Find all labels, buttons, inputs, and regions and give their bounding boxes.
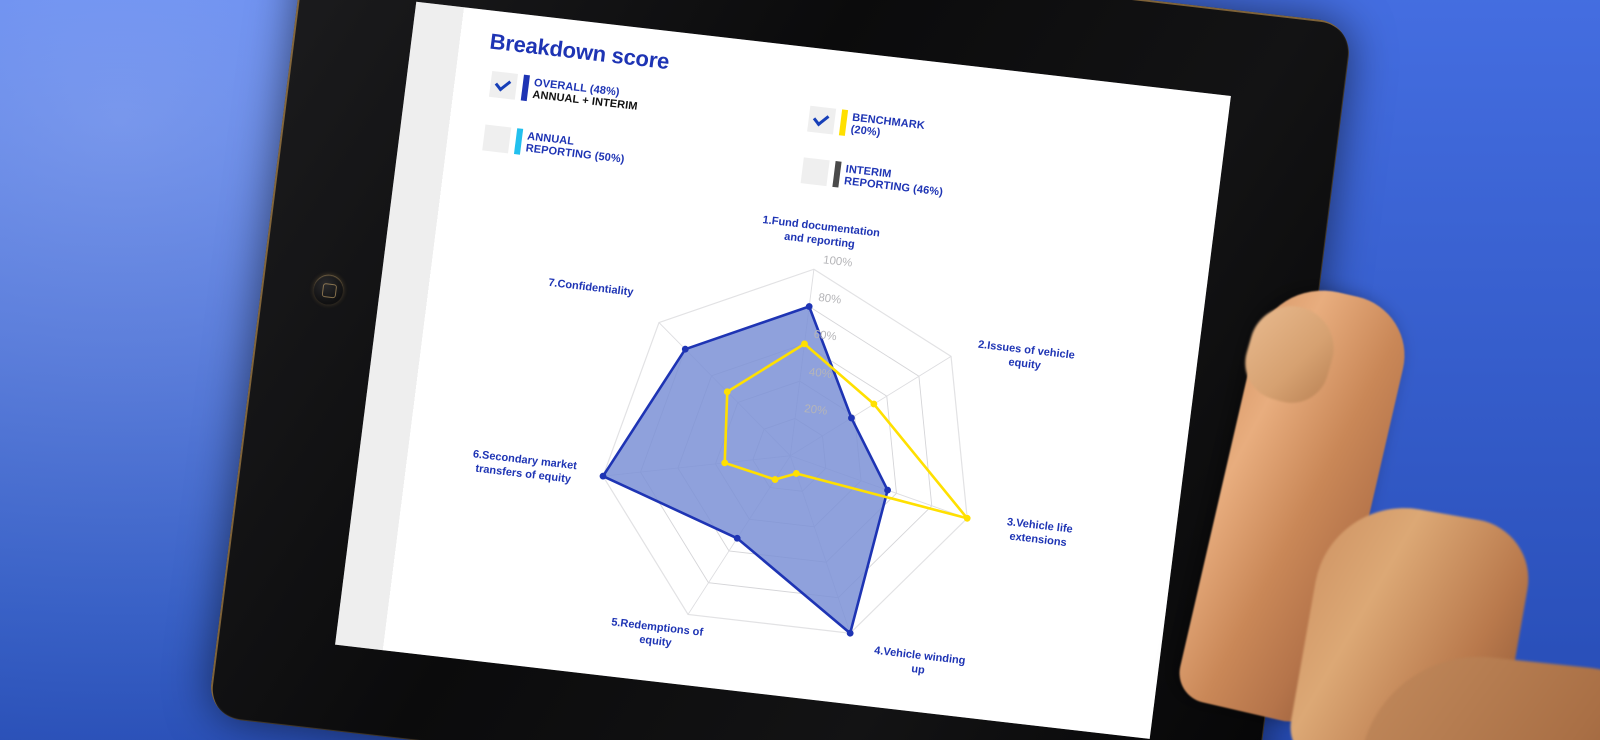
swatch-overall-icon [521, 75, 530, 101]
radar-series-area [587, 285, 909, 635]
radar-tick-label: 40% [808, 366, 832, 381]
checkbox-interim-reporting[interactable] [801, 157, 830, 186]
swatch-benchmark-icon [839, 109, 848, 135]
radar-tick-label: 60% [813, 329, 837, 344]
checkbox-annual-reporting[interactable] [482, 125, 511, 154]
home-button-icon[interactable] [312, 273, 346, 306]
legend-label-annual-reporting: ANNUAL REPORTING (50%) [525, 130, 627, 166]
legend-label-benchmark: BENCHMARK (20%) [850, 111, 926, 144]
checkbox-overall[interactable] [489, 71, 518, 100]
legend-item-interim-reporting[interactable]: INTERIM REPORTING (46%) [801, 157, 946, 199]
legend-label-interim-line2: REPORTING (46%) [843, 175, 943, 198]
legend-label-interim-reporting: INTERIM REPORTING (46%) [843, 163, 945, 199]
legend-label-overall: OVERALL (48%) ANNUAL + INTERIM [532, 76, 640, 113]
swatch-annual-reporting-icon [514, 128, 523, 154]
radar-chart-svg [414, 177, 1168, 724]
legend-item-overall[interactable]: OVERALL (48%) ANNUAL + INTERIM [489, 71, 640, 114]
tablet-device: Breakdown score OVERALL (48%) ANNUAL + I… [207, 0, 1353, 740]
checkbox-benchmark[interactable] [807, 106, 836, 135]
legend-item-benchmark[interactable]: BENCHMARK (20%) [807, 106, 926, 145]
radar-tick-label: 20% [803, 403, 827, 418]
document-page: Breakdown score OVERALL (48%) ANNUAL + I… [335, 2, 1231, 739]
report-content: Breakdown score OVERALL (48%) ANNUAL + I… [414, 29, 1187, 725]
radar-chart: 1.Fund documentation and reporting2.Issu… [414, 177, 1168, 724]
legend-label-benchmark-line2: (20%) [850, 124, 881, 139]
tablet-screen: Breakdown score OVERALL (48%) ANNUAL + I… [335, 2, 1231, 739]
radar-tick-label: 80% [818, 292, 842, 307]
legend-label-annual-line2: REPORTING (50%) [525, 142, 625, 165]
swatch-interim-reporting-icon [832, 161, 841, 187]
legend-item-annual-reporting[interactable]: ANNUAL REPORTING (50%) [482, 125, 627, 167]
